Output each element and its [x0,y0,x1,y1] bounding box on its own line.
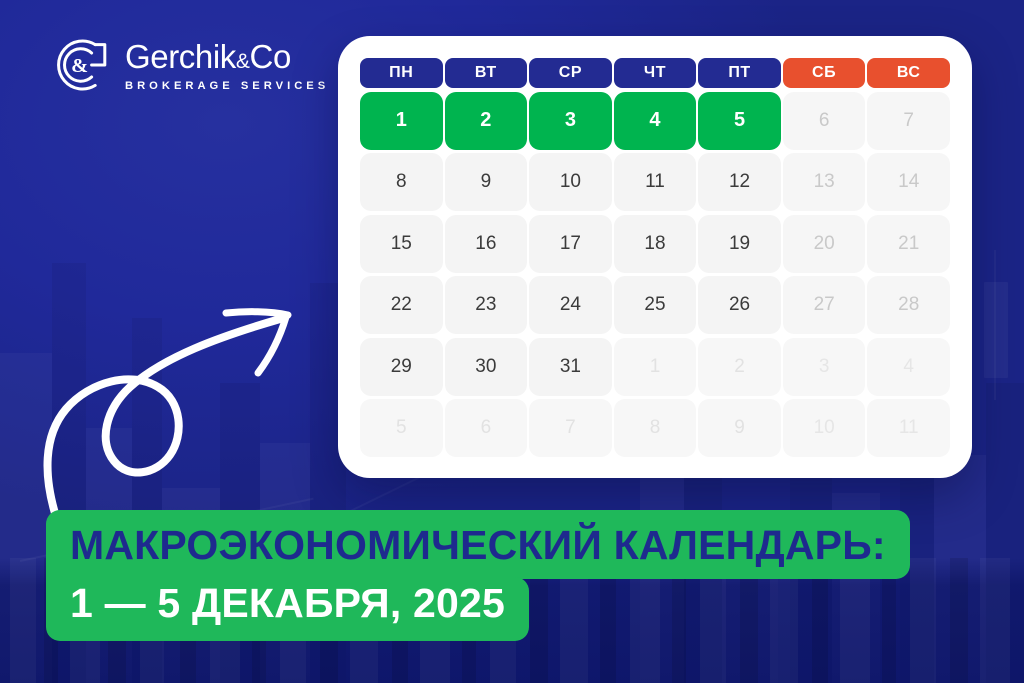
calendar-day-cell[interactable]: 31 [529,338,612,396]
calendar-day-cell[interactable]: 11 [614,153,697,211]
calendar-day-cell[interactable]: 11 [867,399,950,457]
calendar-day-cell[interactable]: 20 [783,215,866,273]
calendar-day-cell[interactable]: 4 [867,338,950,396]
brand-logo[interactable]: & Gerchik&Co BROKERAGE SERVICES [52,35,329,95]
calendar-day-cell[interactable]: 23 [445,276,528,334]
calendar-day-cell[interactable]: 8 [360,153,443,211]
calendar-grid: ПНВТСРЧТПТСБВС12345678910111213141516171… [360,58,950,458]
brand-name: Gerchik&Co [125,40,329,73]
weekday-header-0: ПН [360,58,443,88]
title-banner: МАКРОЭКОНОМИЧЕСКИЙ КАЛЕНДАРЬ: 1 — 5 ДЕКА… [46,510,910,641]
title-line-2: 1 — 5 ДЕКАБРЯ, 2025 [46,577,529,641]
calendar-day-cell[interactable]: 1 [360,92,443,150]
weekday-header-1: ВТ [445,58,528,88]
weekday-header-2: СР [529,58,612,88]
calendar-day-cell[interactable]: 10 [783,399,866,457]
title-line-1: МАКРОЭКОНОМИЧЕСКИЙ КАЛЕНДАРЬ: [46,510,910,579]
calendar-day-cell[interactable]: 13 [783,153,866,211]
calendar-day-cell[interactable]: 24 [529,276,612,334]
gerchik-monogram-icon: & [52,35,112,95]
calendar-day-cell[interactable]: 27 [783,276,866,334]
calendar-day-cell[interactable]: 8 [614,399,697,457]
calendar-day-cell[interactable]: 21 [867,215,950,273]
weekday-header-5: СБ [783,58,866,88]
calendar-day-cell[interactable]: 17 [529,215,612,273]
svg-text:&: & [71,55,88,77]
calendar-day-cell[interactable]: 29 [360,338,443,396]
calendar-day-cell[interactable]: 5 [360,399,443,457]
calendar-day-cell[interactable]: 2 [698,338,781,396]
brand-tagline: BROKERAGE SERVICES [125,80,329,92]
calendar-day-cell[interactable]: 22 [360,276,443,334]
calendar-day-cell[interactable]: 28 [867,276,950,334]
calendar-day-cell[interactable]: 14 [867,153,950,211]
calendar-day-cell[interactable]: 4 [614,92,697,150]
calendar-day-cell[interactable]: 30 [445,338,528,396]
calendar-day-cell[interactable]: 12 [698,153,781,211]
calendar-day-cell[interactable]: 9 [445,153,528,211]
hand-drawn-looping-arrow-icon [40,275,330,525]
calendar-day-cell[interactable]: 9 [698,399,781,457]
calendar-day-cell[interactable]: 7 [529,399,612,457]
calendar-day-cell[interactable]: 6 [783,92,866,150]
calendar-day-cell[interactable]: 19 [698,215,781,273]
weekday-header-3: ЧТ [614,58,697,88]
calendar-day-cell[interactable]: 5 [698,92,781,150]
calendar-day-cell[interactable]: 6 [445,399,528,457]
calendar-day-cell[interactable]: 2 [445,92,528,150]
calendar-day-cell[interactable]: 7 [867,92,950,150]
calendar-day-cell[interactable]: 15 [360,215,443,273]
weekday-header-6: ВС [867,58,950,88]
calendar-day-cell[interactable]: 18 [614,215,697,273]
calendar-day-cell[interactable]: 26 [698,276,781,334]
weekday-header-4: ПТ [698,58,781,88]
calendar-day-cell[interactable]: 10 [529,153,612,211]
calendar-day-cell[interactable]: 25 [614,276,697,334]
calendar-day-cell[interactable]: 3 [783,338,866,396]
calendar-day-cell[interactable]: 3 [529,92,612,150]
calendar-day-cell[interactable]: 1 [614,338,697,396]
calendar-day-cell[interactable]: 16 [445,215,528,273]
calendar-card: ПНВТСРЧТПТСБВС12345678910111213141516171… [338,36,972,478]
